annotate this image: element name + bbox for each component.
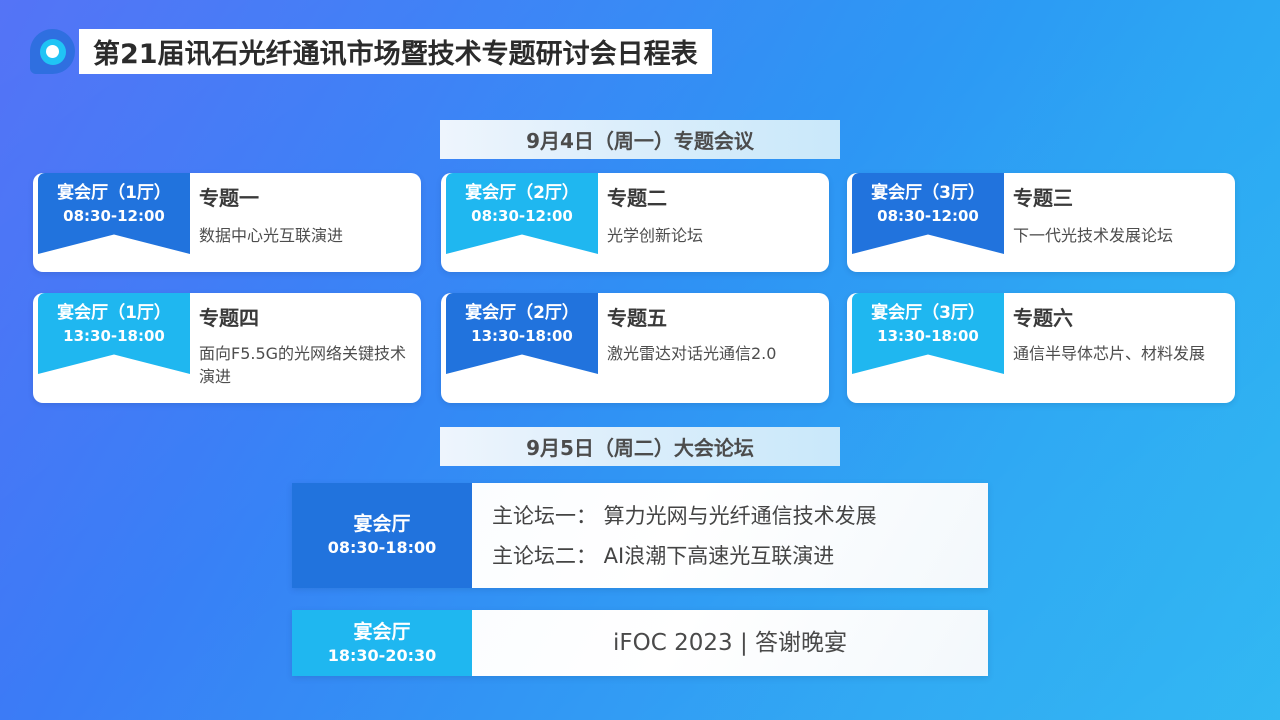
- session-venue-tag: 宴会厅（2厅） 08:30-12:00: [446, 173, 598, 254]
- forum-time-label: 08:30-18:00: [328, 537, 437, 559]
- session-card[interactable]: 宴会厅（2厅） 13:30-18:00 专题五 激光雷达对话光通信2.0: [441, 293, 829, 403]
- session-time-label: 08:30-12:00: [446, 206, 598, 226]
- session-hall-label: 宴会厅（3厅）: [852, 182, 1004, 204]
- session-hall-label: 宴会厅（1厅）: [38, 302, 190, 324]
- session-body: 专题二 光学创新论坛: [607, 185, 819, 247]
- session-hall-label: 宴会厅（2厅）: [446, 182, 598, 204]
- session-topic: 专题三: [1013, 185, 1225, 211]
- session-hall-label: 宴会厅（2厅）: [446, 302, 598, 324]
- dinner-hall-label: 宴会厅: [353, 620, 410, 645]
- forum-line: 主论坛二： AI浪潮下高速光互联演进: [492, 536, 988, 576]
- forum-content: 主论坛一： 算力光网与光纤通信技术发展 主论坛二： AI浪潮下高速光互联演进: [472, 483, 988, 588]
- session-description: 激光雷达对话光通信2.0: [607, 342, 819, 365]
- session-card[interactable]: 宴会厅（3厅） 08:30-12:00 专题三 下一代光技术发展论坛: [847, 173, 1235, 272]
- session-hall-label: 宴会厅（1厅）: [38, 182, 190, 204]
- session-venue-tag: 宴会厅（3厅） 13:30-18:00: [852, 293, 1004, 374]
- day-header-day1: 9月4日（周一）专题会议: [440, 120, 840, 159]
- session-time-label: 08:30-12:00: [38, 206, 190, 226]
- session-card[interactable]: 宴会厅（1厅） 13:30-18:00 专题四 面向F5.5G的光网络关键技术演…: [33, 293, 421, 403]
- dinner-time-label: 18:30-20:30: [328, 645, 437, 667]
- session-description: 数据中心光互联演进: [199, 224, 411, 247]
- session-card[interactable]: 宴会厅（1厅） 08:30-12:00 专题一 数据中心光互联演进: [33, 173, 421, 272]
- session-description: 通信半导体芯片、材料发展: [1013, 342, 1225, 365]
- session-description: 面向F5.5G的光网络关键技术演进: [199, 342, 411, 388]
- session-body: 专题一 数据中心光互联演进: [199, 185, 411, 247]
- session-description: 下一代光技术发展论坛: [1013, 224, 1225, 247]
- forum-line: 主论坛一： 算力光网与光纤通信技术发展: [492, 496, 988, 536]
- session-time-label: 08:30-12:00: [852, 206, 1004, 226]
- session-venue-tag: 宴会厅（2厅） 13:30-18:00: [446, 293, 598, 374]
- session-time-label: 13:30-18:00: [38, 326, 190, 346]
- session-venue-tag: 宴会厅（1厅） 08:30-12:00: [38, 173, 190, 254]
- page-title: 第21届讯石光纤通讯市场暨技术专题研讨会日程表: [93, 32, 698, 71]
- session-time-label: 13:30-18:00: [446, 326, 598, 346]
- page-header: 第21届讯石光纤通讯市场暨技术专题研讨会日程表: [30, 29, 712, 74]
- dinner-row[interactable]: 宴会厅 18:30-20:30 iFOC 2023 | 答谢晚宴: [292, 610, 988, 676]
- session-venue-tag: 宴会厅（3厅） 08:30-12:00: [852, 173, 1004, 254]
- session-body: 专题四 面向F5.5G的光网络关键技术演进: [199, 305, 411, 388]
- session-body: 专题五 激光雷达对话光通信2.0: [607, 305, 819, 365]
- dinner-venue-tag: 宴会厅 18:30-20:30: [292, 610, 472, 676]
- session-topic: 专题二: [607, 185, 819, 211]
- session-card[interactable]: 宴会厅（3厅） 13:30-18:00 专题六 通信半导体芯片、材料发展: [847, 293, 1235, 403]
- session-topic: 专题一: [199, 185, 411, 211]
- dinner-line: iFOC 2023 | 答谢晚宴: [613, 623, 847, 663]
- session-card[interactable]: 宴会厅（2厅） 08:30-12:00 专题二 光学创新论坛: [441, 173, 829, 272]
- session-topic: 专题四: [199, 305, 411, 331]
- day-header-label: 9月5日（周二）大会论坛: [526, 432, 754, 461]
- session-venue-tag: 宴会厅（1厅） 13:30-18:00: [38, 293, 190, 374]
- session-topic: 专题六: [1013, 305, 1225, 331]
- main-forum-row[interactable]: 宴会厅 08:30-18:00 主论坛一： 算力光网与光纤通信技术发展 主论坛二…: [292, 483, 988, 588]
- forum-hall-label: 宴会厅: [353, 512, 410, 537]
- dinner-content: iFOC 2023 | 答谢晚宴: [472, 610, 988, 676]
- logo-ring-icon: [40, 39, 66, 65]
- session-hall-label: 宴会厅（3厅）: [852, 302, 1004, 324]
- session-body: 专题六 通信半导体芯片、材料发展: [1013, 305, 1225, 365]
- day-header-day2: 9月5日（周二）大会论坛: [440, 427, 840, 466]
- title-plate: 第21届讯石光纤通讯市场暨技术专题研讨会日程表: [79, 29, 712, 74]
- ifoc-droplet-logo-icon: [30, 29, 75, 74]
- session-body: 专题三 下一代光技术发展论坛: [1013, 185, 1225, 247]
- session-time-label: 13:30-18:00: [852, 326, 1004, 346]
- session-topic: 专题五: [607, 305, 819, 331]
- logo-dot-icon: [46, 45, 59, 58]
- day-header-label: 9月4日（周一）专题会议: [526, 125, 754, 154]
- session-description: 光学创新论坛: [607, 224, 819, 247]
- forum-venue-tag: 宴会厅 08:30-18:00: [292, 483, 472, 588]
